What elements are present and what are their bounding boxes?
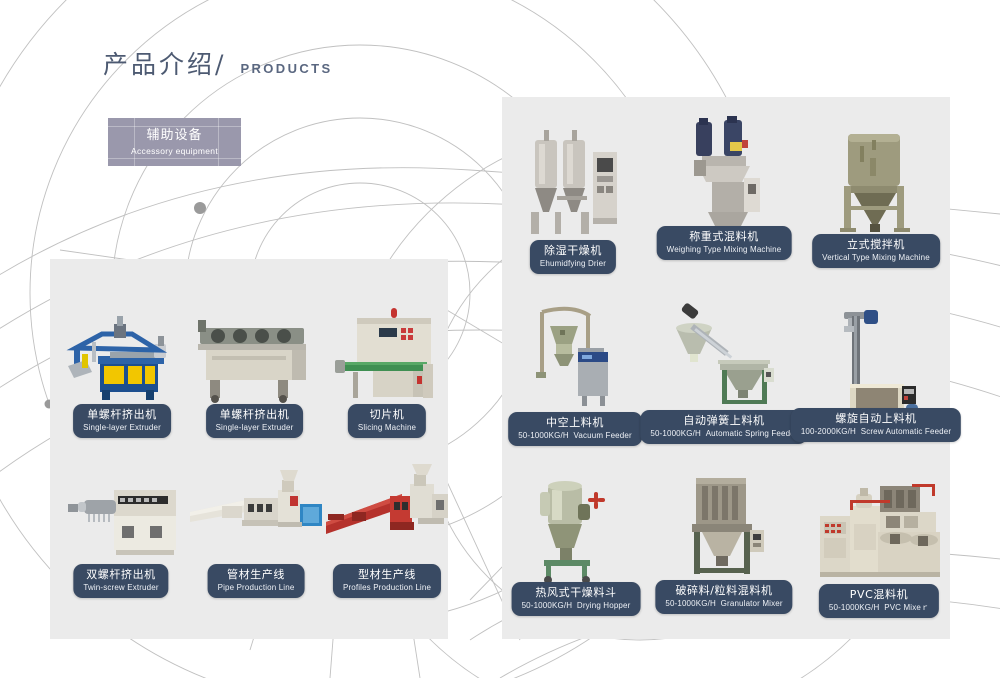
caption-zh: 立式搅拌机 (822, 238, 930, 252)
caption-en: Profiles Production Line (343, 583, 431, 593)
sheet-extrusion-line-icon (192, 300, 317, 410)
product-card-pipe-production-line[interactable]: 管材生产线 Pipe Production Line (186, 460, 326, 590)
product-card-drying-hopper[interactable]: 热风式干燥料斗 50-1000KG/H Drying Hopper (520, 470, 632, 610)
product-card-pvc-mixer[interactable]: PVC混料机 50-1000KG/H PVC Mixeｒ (812, 472, 946, 610)
caption-en: 100-2000KG/H Screw Automatic Feeder (801, 427, 951, 437)
pipe-production-line-icon (186, 460, 326, 570)
product-card-vertical-mixer[interactable]: 立式搅拌机 Vertical Type Mixing Machine (820, 120, 932, 264)
product-card-granulator-mixer[interactable]: 破碎料/粒料混料机 50-1000KG/H Granulator Mixer (668, 468, 780, 610)
category-guide-line (108, 126, 241, 127)
caption-zh: 双螺杆挤出机 (83, 568, 158, 582)
caption-granulator-mixer: 破碎料/粒料混料机 50-1000KG/H Granulator Mixer (655, 580, 792, 614)
caption-zh: 管材生产线 (218, 568, 295, 582)
caption-dehumidifying-drier: 除湿干燥机 Ehumidfying Drier (530, 240, 616, 274)
caption-zh: 破碎料/粒料混料机 (665, 584, 782, 598)
caption-en: Weighing Type Mixing Machine (667, 245, 782, 255)
product-card-twin-screw-extruder[interactable]: 双螺杆挤出机 Twin-screw Extruder (58, 460, 184, 590)
pvc-mixer-icon (812, 472, 946, 586)
caption-zh: 切片机 (358, 408, 416, 422)
caption-zh: 螺旋自动上料机 (801, 412, 951, 426)
caption-sheet-extrusion-line: 单螺杆挤出机 Single-layer Extruder (206, 404, 304, 438)
caption-screw-feeder: 螺旋自动上料机 100-2000KG/H Screw Automatic Fee… (791, 408, 961, 442)
dehumidifying-drier-icon (517, 126, 629, 244)
caption-zh: 中空上料机 (518, 416, 632, 430)
screw-feeder-icon (818, 296, 934, 416)
caption-en: Single-layer Extruder (216, 423, 294, 433)
vertical-mixer-icon (820, 120, 932, 242)
page-title: 产品介绍/ PRODUCTS (103, 45, 333, 81)
twin-screw-extruder-icon (58, 460, 184, 570)
product-card-weighing-mixer[interactable]: 称重式混料机 Weighing Type Mixing Machine (668, 112, 780, 264)
caption-en: Single-layer Extruder (83, 423, 161, 433)
caption-en: Ehumidfying Drier (540, 259, 606, 269)
weighing-mixer-icon (668, 112, 780, 240)
product-card-screw-feeder[interactable]: 螺旋自动上料机 100-2000KG/H Screw Automatic Fee… (818, 296, 934, 440)
caption-en: Vertical Type Mixing Machine (822, 253, 930, 263)
caption-zh: 除湿干燥机 (540, 244, 606, 258)
profiles-production-line-icon (322, 460, 452, 570)
product-catalog-page: 产品介绍/ PRODUCTS 辅助设备 Accessory equipment (0, 0, 1000, 678)
product-card-single-screw-extruder[interactable]: 单螺杆挤出机 Single-layer Extruder (62, 300, 182, 430)
caption-en: Twin-screw Extruder (83, 583, 158, 593)
caption-zh: 单螺杆挤出机 (216, 408, 294, 422)
caption-pvc-mixer: PVC混料机 50-1000KG/H PVC Mixeｒ (819, 584, 939, 618)
product-card-vacuum-feeder[interactable]: 中空上料机 50-1000KG/H Vacuum Feeder (520, 300, 630, 440)
caption-twin-screw-extruder: 双螺杆挤出机 Twin-screw Extruder (73, 564, 168, 598)
caption-profiles-production-line: 型材生产线 Profiles Production Line (333, 564, 441, 598)
category-label-zh: 辅助设备 (146, 128, 202, 144)
slicing-machine-icon (327, 300, 447, 410)
granulator-mixer-icon (668, 468, 780, 586)
product-card-dehumidifying-drier[interactable]: 除湿干燥机 Ehumidfying Drier (517, 126, 629, 266)
page-title-en: PRODUCTS (240, 61, 332, 76)
vacuum-feeder-icon (520, 300, 630, 416)
product-card-profiles-production-line[interactable]: 型材生产线 Profiles Production Line (322, 460, 452, 590)
caption-pipe-production-line: 管材生产线 Pipe Production Line (208, 564, 305, 598)
caption-zh: PVC混料机 (829, 588, 929, 602)
caption-en: 50-1000KG/H Automatic Spring Feeder (650, 429, 797, 439)
caption-en: 50-1000KG/H Granulator Mixer (665, 599, 782, 609)
caption-zh: 热风式干燥料斗 (522, 586, 631, 600)
caption-en: 50-1000KG/H Vacuum Feeder (518, 431, 632, 441)
caption-en: Pipe Production Line (218, 583, 295, 593)
product-card-sheet-extrusion-line[interactable]: 单螺杆挤出机 Single-layer Extruder (192, 300, 317, 430)
caption-zh: 型材生产线 (343, 568, 431, 582)
caption-weighing-mixer: 称重式混料机 Weighing Type Mixing Machine (657, 226, 792, 260)
caption-slicing-machine: 切片机 Slicing Machine (348, 404, 426, 438)
caption-zh: 称重式混料机 (667, 230, 782, 244)
drying-hopper-icon (520, 470, 632, 586)
category-label-en: Accessory equipment (131, 146, 218, 156)
single-screw-extruder-icon (62, 300, 182, 410)
caption-vertical-mixer: 立式搅拌机 Vertical Type Mixing Machine (812, 234, 940, 268)
caption-zh: 自动弹簧上料机 (650, 414, 797, 428)
caption-zh: 单螺杆挤出机 (83, 408, 161, 422)
product-card-spring-feeder[interactable]: 自动弹簧上料机 50-1000KG/H Automatic Spring Fee… (666, 298, 782, 440)
caption-spring-feeder: 自动弹簧上料机 50-1000KG/H Automatic Spring Fee… (640, 410, 807, 444)
page-title-zh: 产品介绍/ (103, 45, 226, 81)
caption-en: Slicing Machine (358, 423, 416, 433)
category-badge-accessory-equipment[interactable]: 辅助设备 Accessory equipment (108, 118, 241, 166)
caption-single-screw-extruder: 单螺杆挤出机 Single-layer Extruder (73, 404, 171, 438)
spring-feeder-icon (666, 298, 782, 416)
caption-en: 50-1000KG/H PVC Mixeｒ (829, 603, 929, 613)
category-guide-line (108, 158, 241, 159)
product-card-slicing-machine[interactable]: 切片机 Slicing Machine (327, 300, 447, 430)
caption-drying-hopper: 热风式干燥料斗 50-1000KG/H Drying Hopper (512, 582, 641, 616)
caption-en: 50-1000KG/H Drying Hopper (522, 601, 631, 611)
caption-vacuum-feeder: 中空上料机 50-1000KG/H Vacuum Feeder (508, 412, 642, 446)
